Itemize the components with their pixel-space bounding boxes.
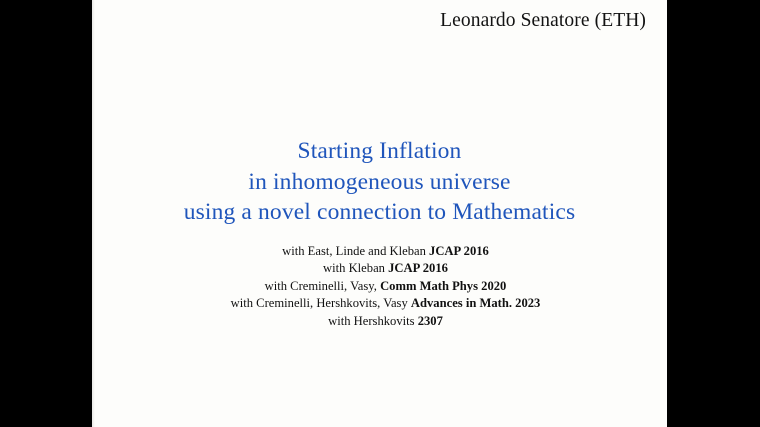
reference-line: with Creminelli, Vasy, Comm Math Phys 20… (98, 278, 673, 295)
presenter-name: Leonardo Senatore (ETH) (440, 10, 646, 32)
reference-authors: with East, Linde and Kleban (282, 244, 429, 258)
reference-list: with East, Linde and Kleban JCAP 2016 wi… (98, 243, 673, 330)
title-line-3: using a novel connection to Mathematics (92, 197, 667, 228)
title-line-1: Starting Inflation (92, 136, 667, 167)
reference-citation: JCAP 2016 (429, 244, 489, 258)
video-viewport: Leonardo Senatore (ETH) Starting Inflati… (0, 0, 760, 427)
reference-line: with East, Linde and Kleban JCAP 2016 (98, 243, 673, 260)
reference-authors: with Kleban (323, 261, 388, 275)
reference-citation: Comm Math Phys 2020 (380, 279, 506, 293)
reference-authors: with Creminelli, Vasy, (265, 279, 380, 293)
reference-authors: with Creminelli, Hershkovits, Vasy (231, 296, 411, 310)
reference-citation: Advances in Math. 2023 (411, 296, 540, 310)
reference-authors: with Hershkovits (328, 314, 418, 328)
reference-line: with Kleban JCAP 2016 (98, 260, 673, 277)
reference-line: with Creminelli, Hershkovits, Vasy Advan… (98, 295, 673, 312)
presentation-slide: Leonardo Senatore (ETH) Starting Inflati… (92, 0, 667, 427)
reference-citation: JCAP 2016 (388, 261, 448, 275)
letterbox-right (667, 0, 760, 427)
letterbox-left (0, 0, 92, 427)
reference-citation: 2307 (418, 314, 443, 328)
reference-line: with Hershkovits 2307 (98, 313, 673, 330)
slide-title: Starting Inflation in inhomogeneous univ… (92, 136, 667, 228)
title-line-2: in inhomogeneous universe (92, 167, 667, 198)
